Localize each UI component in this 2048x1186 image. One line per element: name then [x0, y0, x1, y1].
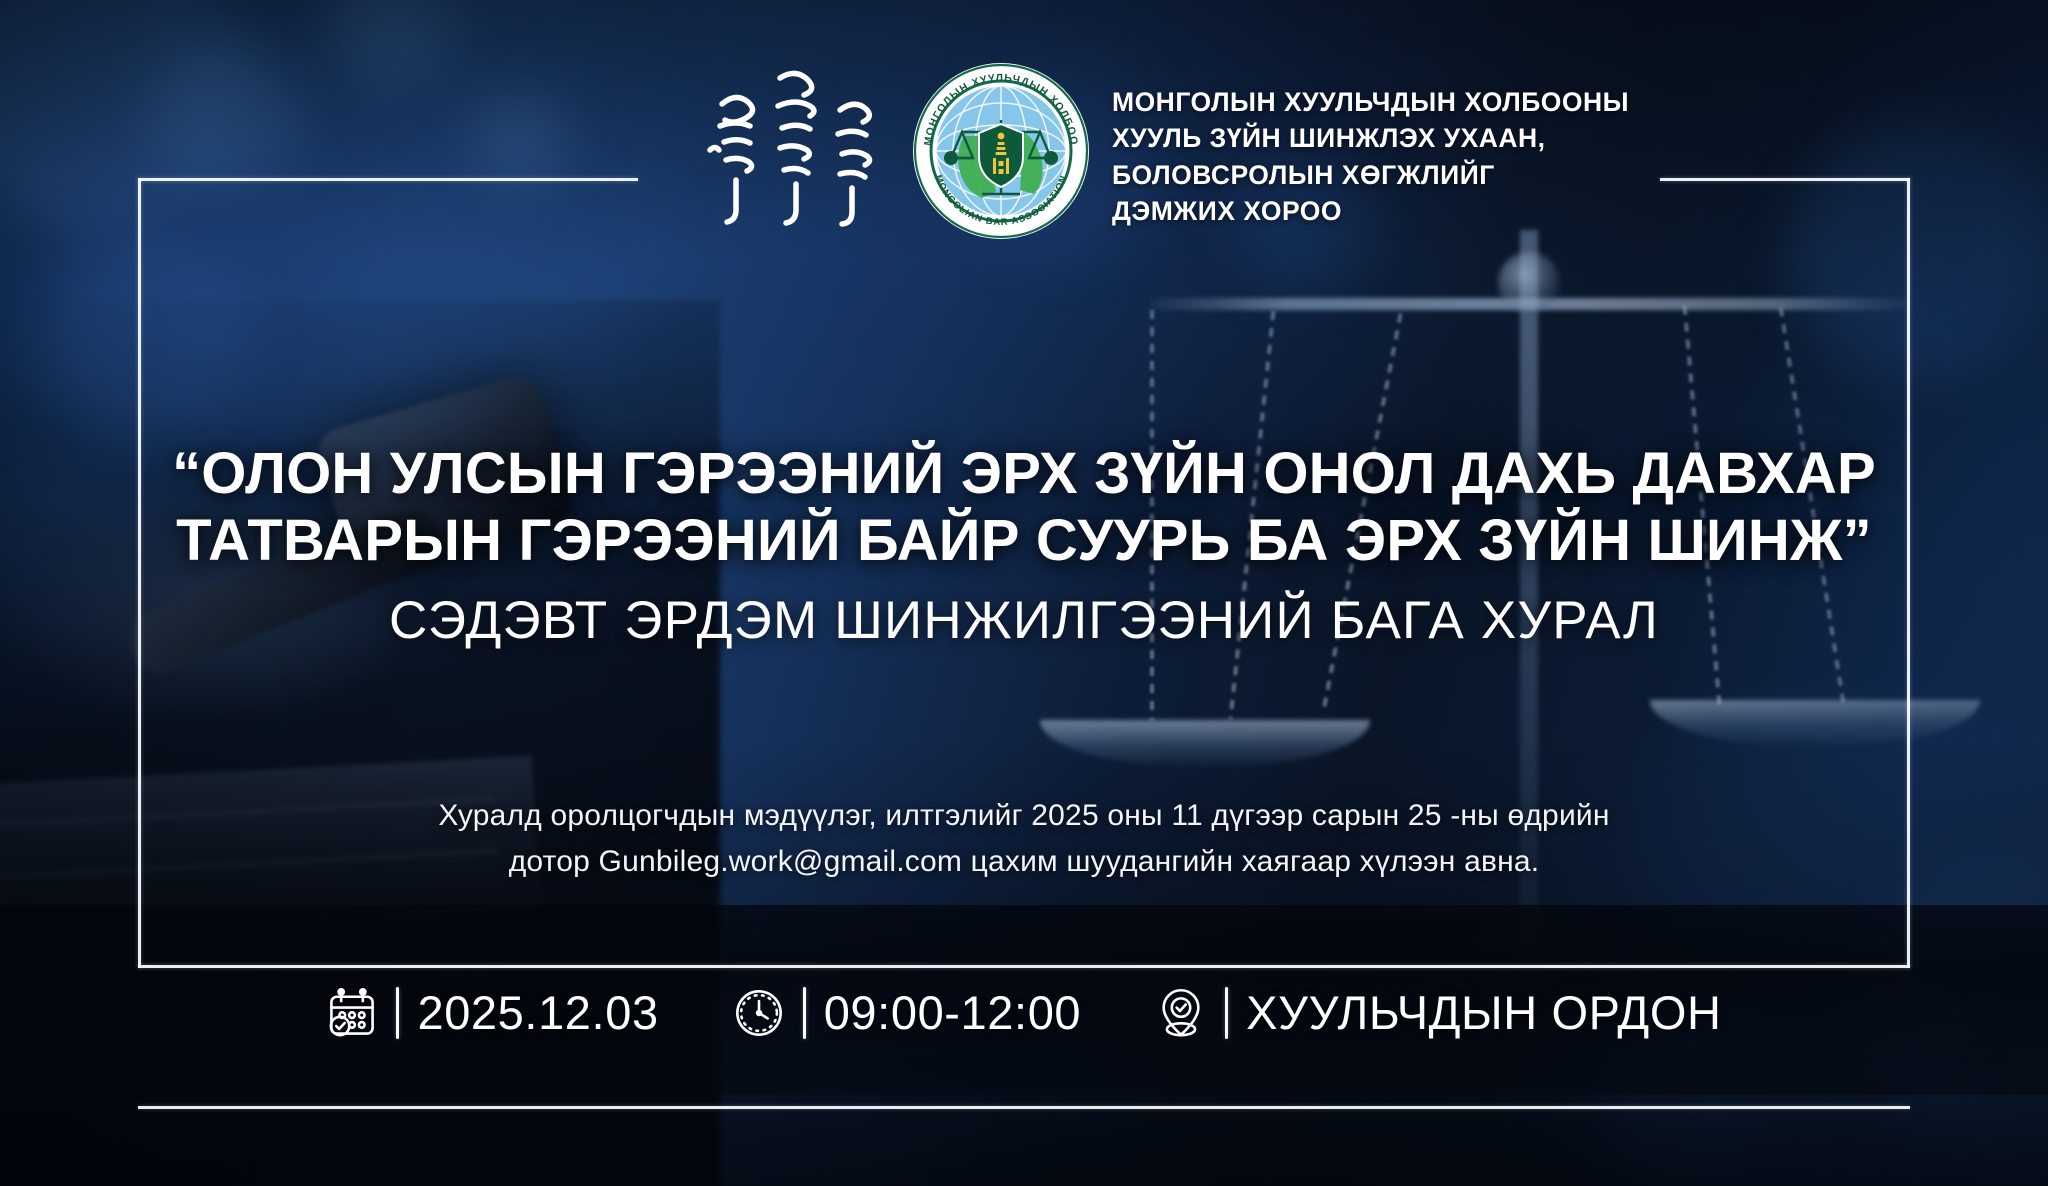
event-location-item: ХУУЛЬЧДЫН ОРДОН	[1155, 985, 1721, 1040]
event-time: 09:00-12:00	[824, 985, 1081, 1040]
org-line-1: МОНГОЛЫН ХУУЛЬЧДЫН ХОЛБООНЫ	[1112, 84, 1629, 120]
org-line-2: ХУУЛЬ ЗҮЙН ШИНЖЛЭХ УХААН,	[1112, 120, 1629, 156]
submission-instructions: Хуралд оролцогчдын мэдүүлэг, илтгэлийг 2…	[0, 793, 2048, 884]
org-line-3: БОЛОВСРОЛЫН ХӨГЖЛИЙГ	[1112, 157, 1629, 193]
clock-icon	[733, 987, 785, 1039]
event-subtitle: СЭДЭВТ ЭРДЭМ ШИНЖИЛГЭЭНИЙ БАГА ХУРАЛ	[0, 589, 2048, 653]
map-pin-check-icon	[1155, 987, 1207, 1039]
org-line-4: ДЭМЖИХ ХОРОО	[1112, 193, 1629, 229]
meta-divider	[396, 987, 399, 1039]
instructions-line-2: дотор Gunbileg.work@gmail.com цахим шууд…	[190, 839, 1858, 885]
poster-header: МОНГОЛЫН ХУУЛЬЧДЫН ХОЛБОО MONGOLIAN BAR …	[700, 62, 1629, 242]
event-location: ХУУЛЬЧДЫН ОРДОН	[1246, 985, 1721, 1040]
page-title: “ОЛОН УЛСЫН ГЭРЭЭНИЙ ЭРХ ЗҮЙН ОНОЛ ДАХЬ …	[0, 440, 2048, 575]
title-line-1: “ОЛОН УЛСЫН ГЭРЭЭНИЙ ЭРХ ЗҮЙН ОНОЛ ДАХЬ …	[120, 440, 1928, 507]
meta-divider	[1225, 987, 1228, 1039]
event-title-block: “ОЛОН УЛСЫН ГЭРЭЭНИЙ ЭРХ ЗҮЙН ОНОЛ ДАХЬ …	[0, 440, 2048, 652]
title-line-2: ТАТВАРЫН ГЭРЭЭНИЙ БАЙР СУУРЬ БА ЭРХ ЗҮЙН…	[120, 507, 1928, 574]
meta-divider	[803, 987, 806, 1039]
event-date-item: 2025.12.03	[326, 985, 658, 1040]
instructions-line-1: Хуралд оролцогчдын мэдүүлэг, илтгэлийг 2…	[190, 793, 1858, 839]
event-poster: МОНГОЛЫН ХУУЛЬЧДЫН ХОЛБОО MONGOLIAN BAR …	[0, 0, 2048, 1186]
mongolian-bar-association-emblem: МОНГОЛЫН ХУУЛЬЧДЫН ХОЛБОО MONGOLIAN BAR …	[912, 62, 1090, 240]
event-date: 2025.12.03	[417, 985, 658, 1040]
calendar-check-icon	[326, 987, 378, 1039]
organization-name: МОНГОЛЫН ХУУЛЬЧДЫН ХОЛБООНЫ ХУУЛЬ ЗҮЙН Ш…	[1112, 84, 1629, 229]
mongolian-vertical-script-logo	[700, 62, 890, 242]
event-time-item: 09:00-12:00	[733, 985, 1081, 1040]
footer-baseline-rule	[138, 1106, 1910, 1109]
event-details-bar: 2025.12.03 09:00-12:00	[0, 985, 2048, 1040]
